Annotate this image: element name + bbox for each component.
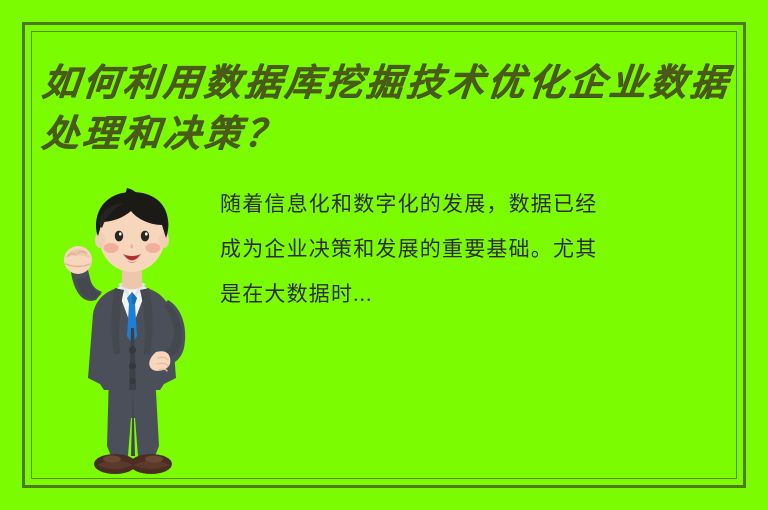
title-line-1: 如何利用数据库挖掘技术优化企业数据: [39, 58, 734, 109]
businessman-icon: [52, 178, 212, 483]
page-title: 如何利用数据库挖掘技术优化企业数据 处理和决策？: [42, 58, 732, 160]
title-line-2: 处理和决策？: [39, 109, 734, 160]
excerpt-line-2: 成为企业决策和发展的重要基础。尤其: [220, 227, 690, 272]
excerpt-line-3: 是在大数据时...: [220, 272, 690, 317]
excerpt-line-1: 随着信息化和数字化的发展，数据已经: [220, 182, 690, 227]
article-cover-card: 如何利用数据库挖掘技术优化企业数据 处理和决策？: [0, 0, 768, 510]
article-excerpt: 随着信息化和数字化的发展，数据已经 成为企业决策和发展的重要基础。尤其 是在大数…: [220, 182, 690, 317]
businessman-illustration: [52, 178, 212, 483]
